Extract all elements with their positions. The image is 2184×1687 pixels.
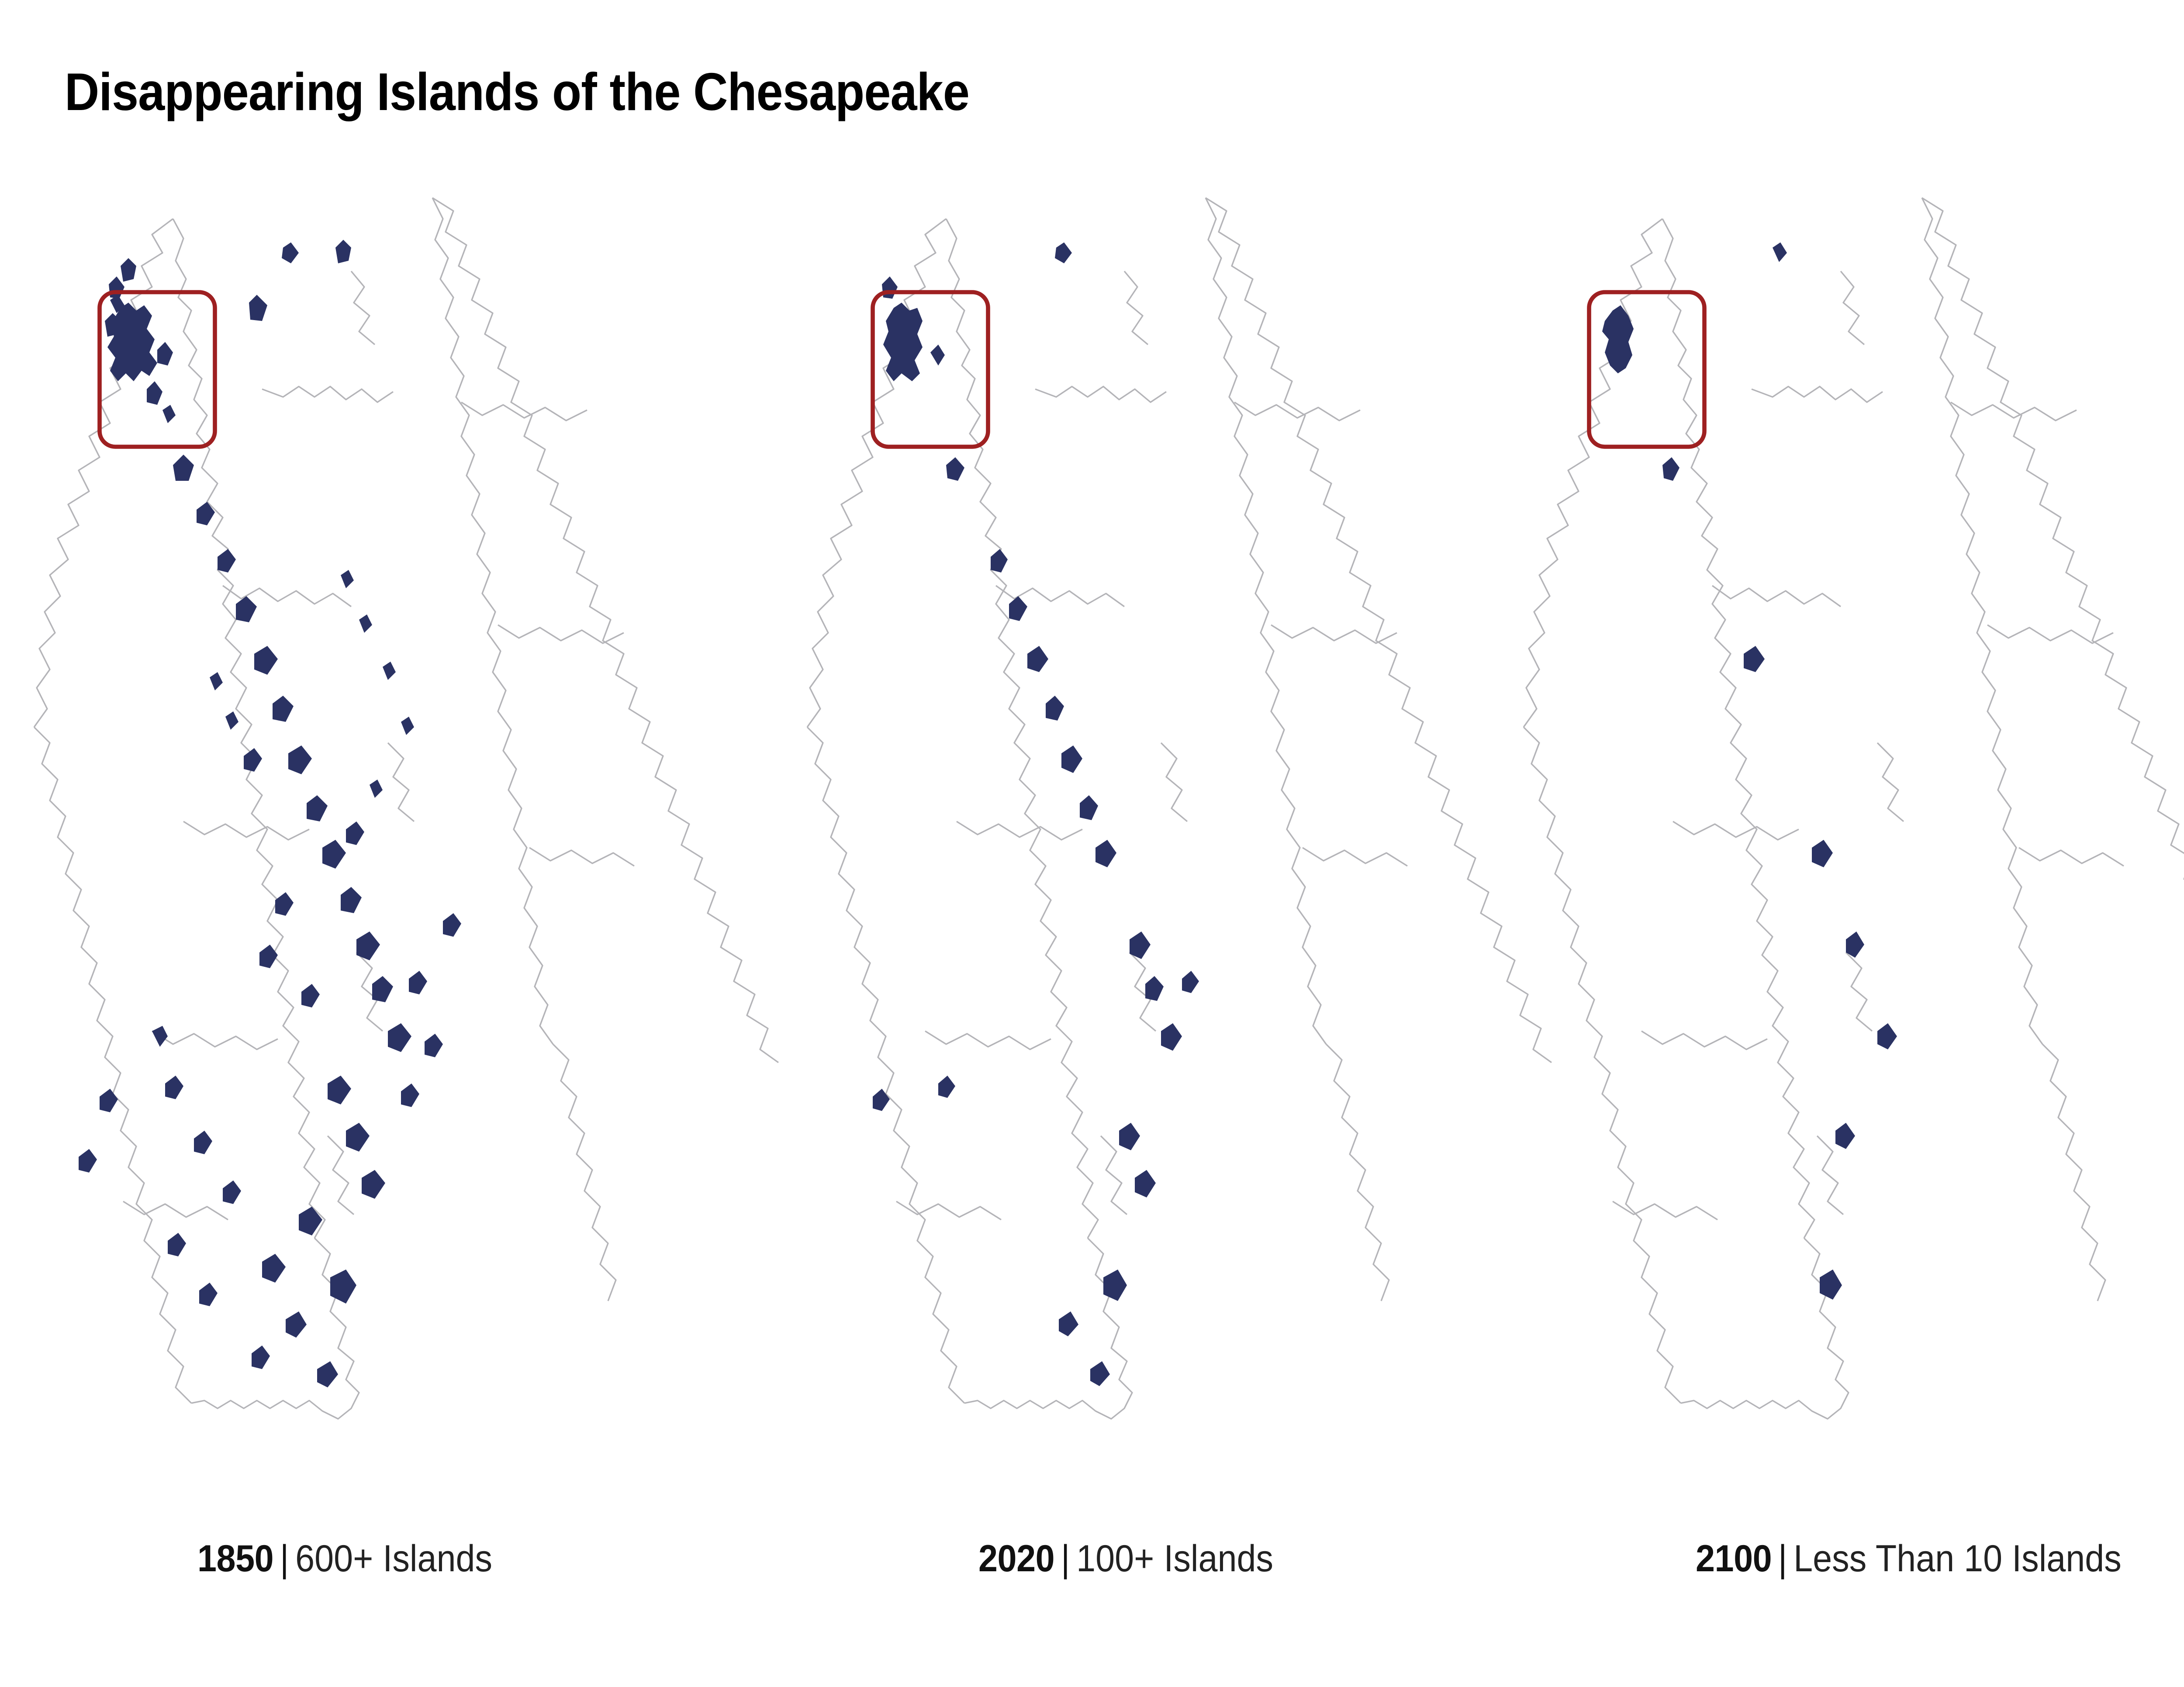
caption-2020: 2020|100+ Islands: [978, 1537, 1273, 1580]
caption-separator-1850: |: [273, 1538, 295, 1580]
caption-year-2020: 2020: [978, 1538, 1054, 1580]
map-panel-2020[interactable]: [799, 166, 1559, 1498]
caption-count-2100: Less Than 10 Islands: [1794, 1538, 2122, 1580]
caption-count-2020: 100+ Islands: [1076, 1538, 1273, 1580]
caption-1850: 1850|600+ Islands: [197, 1537, 492, 1580]
caption-count-1850: 600+ Islands: [295, 1538, 492, 1580]
caption-separator-2020: |: [1054, 1538, 1076, 1580]
coastline-layer-2100: [1524, 198, 2184, 1419]
caption-2100: 2100|Less Than 10 Islands: [1696, 1537, 2122, 1580]
map-svg-2100: [1516, 166, 2184, 1498]
highlight-box-2100: [1589, 292, 1704, 447]
coastline-layer-2020: [807, 198, 1552, 1419]
island-layer-2100: [1602, 242, 1897, 1300]
map-panel-2100[interactable]: [1516, 166, 2184, 1498]
caption-year-1850: 1850: [197, 1538, 273, 1580]
coastline-layer-1850: [34, 198, 778, 1419]
map-panel-1850[interactable]: [26, 166, 786, 1498]
caption-separator-2100: |: [1772, 1538, 1794, 1580]
map-svg-1850: [26, 166, 786, 1498]
map-svg-2020: [799, 166, 1559, 1498]
page-title: Disappearing Islands of the Chesapeake: [65, 61, 969, 122]
island-layer-2020: [873, 242, 1199, 1386]
caption-year-2100: 2100: [1696, 1538, 1772, 1580]
